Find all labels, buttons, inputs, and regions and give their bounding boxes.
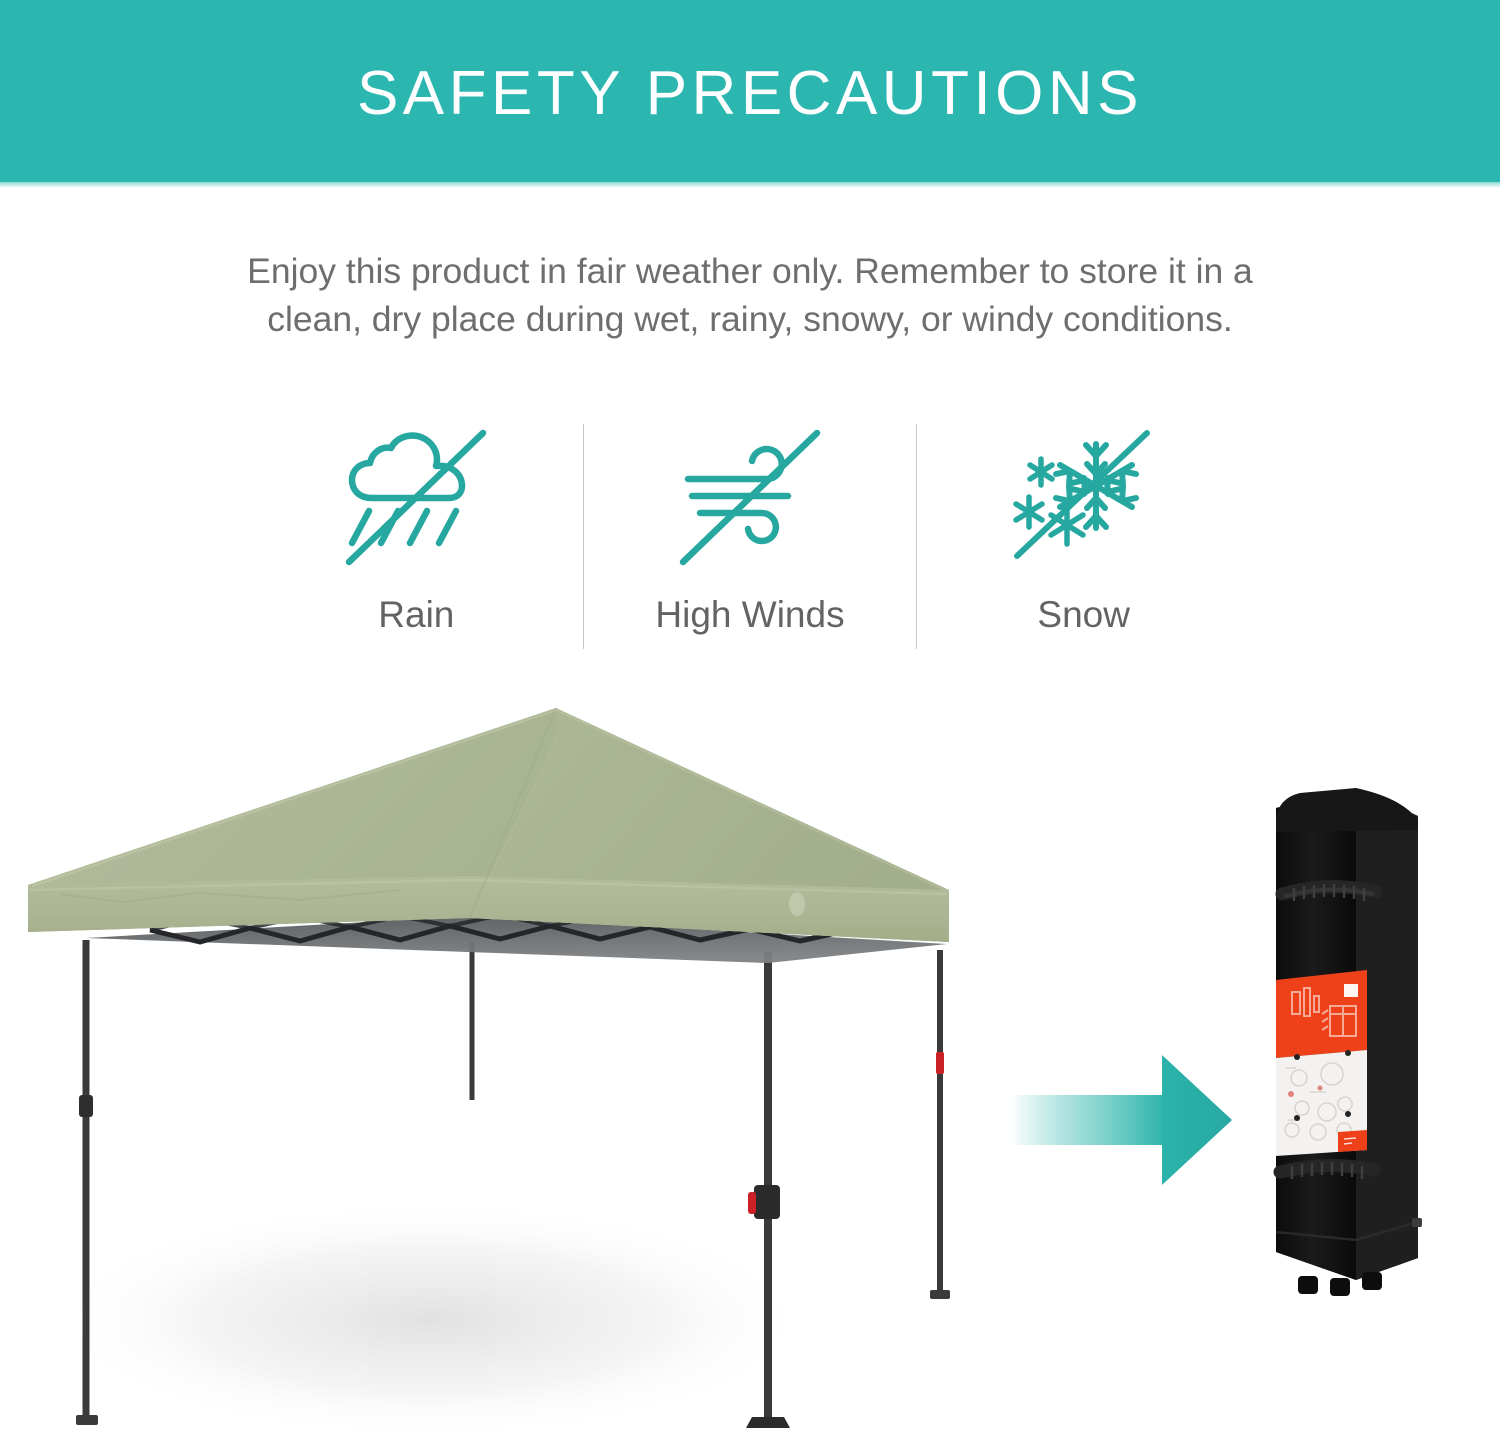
condition-snow: Snow — [917, 412, 1250, 657]
condition-label-high-winds: High Winds — [655, 596, 844, 633]
condition-label-rain: Rain — [378, 596, 454, 633]
canopy-fabric — [28, 708, 949, 942]
header-fade-divider — [0, 182, 1500, 188]
intro-line-2: clean, dry place during wet, rainy, snow… — [80, 296, 1420, 344]
ground-shadow — [50, 1202, 810, 1430]
condition-label-snow: Snow — [1037, 596, 1130, 633]
wheeled-carry-bag — [1276, 788, 1422, 1296]
intro-line-1: Enjoy this product in fair weather only.… — [80, 248, 1420, 296]
intro-paragraph: Enjoy this product in fair weather only.… — [0, 248, 1500, 344]
condition-high-winds: High Winds — [584, 412, 917, 657]
no-snow-icon — [1004, 418, 1164, 578]
bag-wheels — [1298, 1272, 1382, 1296]
header-banner: SAFETY PRECAUTIONS — [0, 0, 1500, 182]
prohibited-conditions-row: Rain High Winds — [250, 412, 1250, 657]
safety-precautions-infographic: SAFETY PRECAUTIONS Enjoy this product in… — [0, 0, 1500, 1430]
no-rain-icon — [336, 418, 496, 578]
product-scene: Pack & Store bcp BEST CHOICE PRODUCTS — [0, 680, 1500, 1430]
no-wind-icon — [670, 418, 830, 578]
right-arrow-icon — [1010, 1055, 1232, 1185]
scene-illustration — [0, 680, 1500, 1430]
condition-rain: Rain — [250, 412, 583, 657]
bag-side-clasp — [1412, 1218, 1422, 1227]
bag-product-label — [1276, 970, 1367, 1156]
page-title: SAFETY PRECAUTIONS — [357, 57, 1143, 125]
